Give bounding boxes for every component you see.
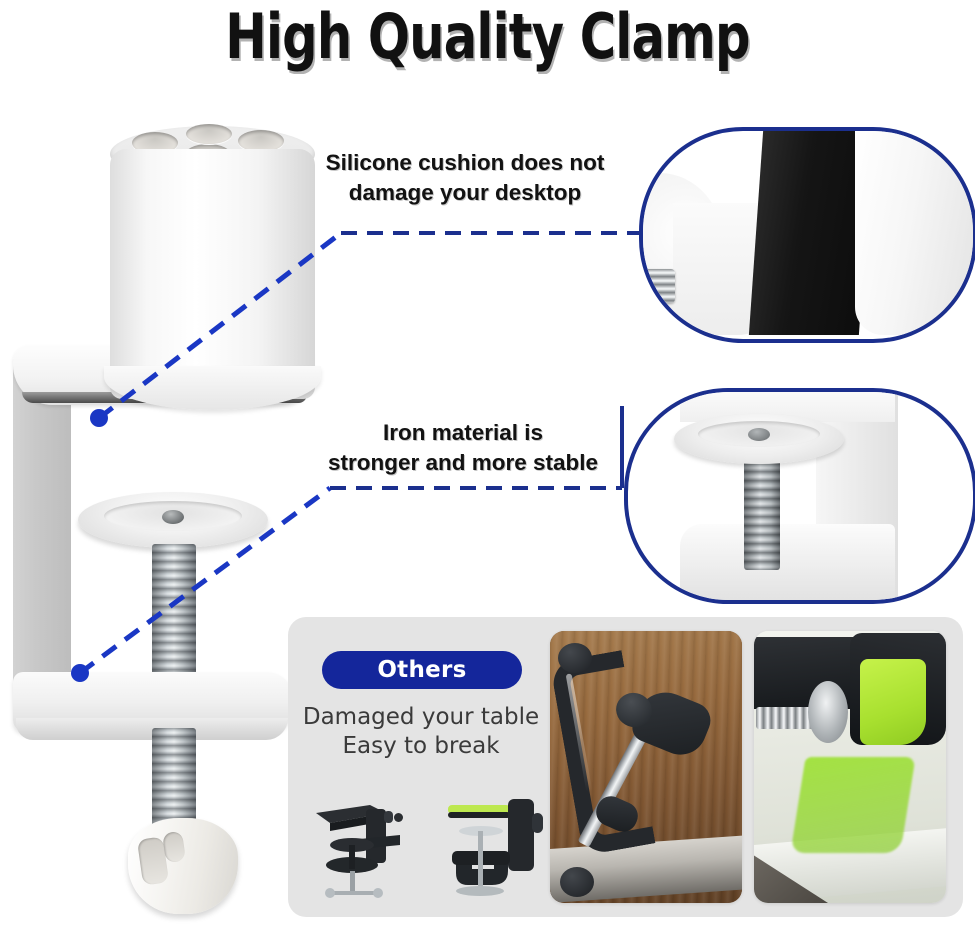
broken-clamp-top-knob — [558, 643, 592, 673]
photo-green-stain-on-desk — [754, 631, 946, 903]
photo-broken-clamp-on-wood — [550, 631, 742, 903]
callout-iron-line1: Iron material is — [298, 418, 628, 448]
inset2-screw-thread — [744, 454, 780, 570]
bracket-back-plate — [13, 357, 71, 697]
black-clamp-render-green-pad — [434, 791, 554, 907]
product-infographic: High Quality Clamp — [0, 0, 975, 929]
others-comparison-panel: Others Damaged your table Easy to break — [288, 617, 963, 917]
screw-thread-lower — [152, 728, 196, 832]
others-description: Damaged your table Easy to break — [296, 703, 546, 761]
black-clamp-render-plain — [308, 795, 428, 907]
broken-clamp-foot — [560, 867, 594, 897]
callout-iron-material: Iron material is stronger and more stabl… — [298, 418, 628, 478]
inset1-screw-thread — [639, 269, 675, 303]
callout-iron-line2: stronger and more stable — [298, 448, 628, 478]
callout-silicone-line1: Silicone cushion does not — [305, 148, 625, 178]
inset1-white-arm — [855, 131, 975, 335]
others-badge: Others — [322, 651, 522, 689]
inset2-screw-head — [748, 428, 770, 441]
honeycomb-hole-2 — [186, 124, 232, 144]
clamp-metal-washer — [808, 681, 848, 743]
inset-iron-screw-closeup — [624, 388, 975, 604]
callout-silicone-cushion: Silicone cushion does not damage your de… — [305, 148, 625, 208]
cylinder-post — [110, 149, 315, 399]
green-stain-mark — [790, 757, 915, 853]
callout-silicone-line2: damage your desktop — [305, 178, 625, 208]
page-title: High Quality Clamp — [98, 2, 878, 72]
inset2-bottom-arm — [680, 524, 895, 602]
green-silicone-pad — [860, 659, 926, 745]
inset-silicone-pad-closeup — [639, 127, 975, 343]
hero-product-image — [0, 120, 330, 910]
others-description-line1: Damaged your table — [296, 703, 546, 732]
screw-head — [162, 510, 184, 524]
others-description-line2: Easy to break — [296, 732, 546, 761]
screw-thread-upper — [152, 544, 196, 680]
